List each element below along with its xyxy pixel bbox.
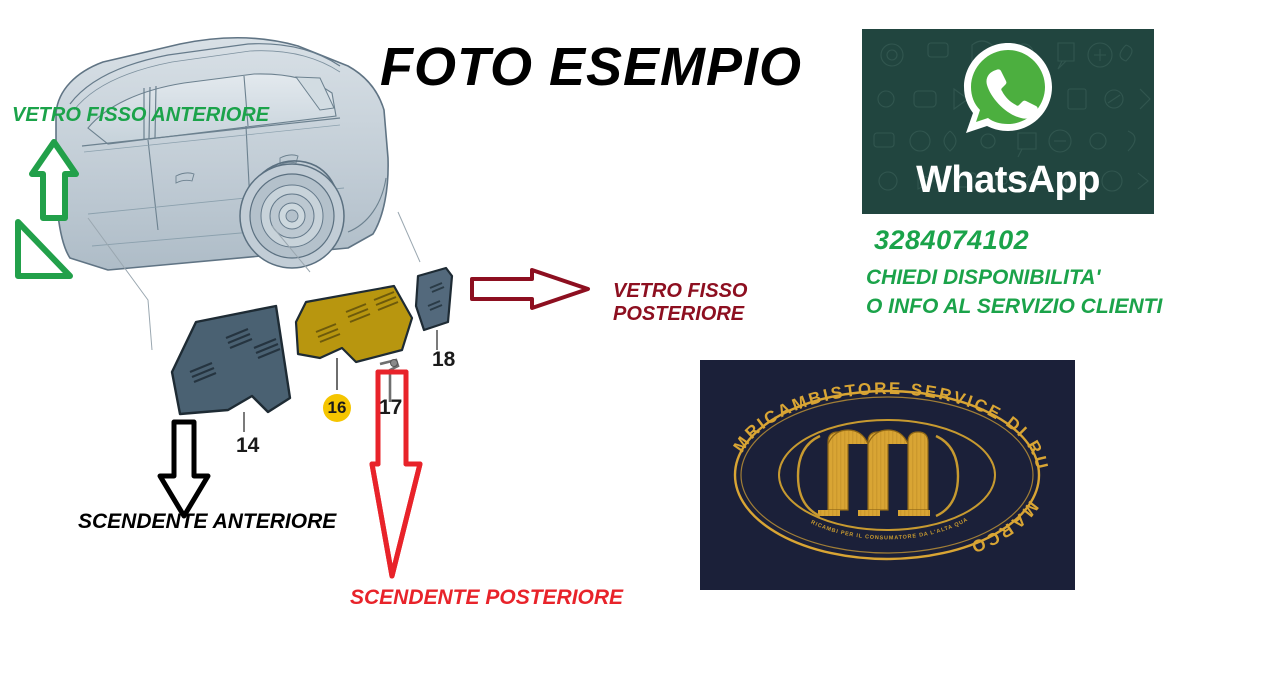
shop-logo-card: MRICAMBISTORE SERVICE DI RUSSO MARCO — [700, 360, 1075, 590]
part-number-18: 18 — [432, 348, 455, 372]
callout-vfp-line1: VETRO FISSO — [613, 280, 747, 303]
contact-availability-text: CHIEDI DISPONIBILITA' — [866, 266, 1100, 290]
glass-part-16 — [296, 286, 412, 362]
glass-part-14 — [172, 306, 290, 414]
poster-canvas: 14 16 17 18 VETRO FISSO ANTERIORE VETRO … — [0, 0, 1264, 678]
part-number-17: 17 — [379, 396, 402, 420]
whatsapp-banner: WhatsApp — [862, 29, 1154, 214]
callout-scendente-posteriore: SCENDENTE POSTERIORE — [350, 586, 623, 610]
shop-logo-graphic: MRICAMBISTORE SERVICE DI RUSSO MARCO — [700, 360, 1075, 590]
part-number-16-badge: 16 — [323, 394, 351, 422]
page-title: FOTO ESEMPIO — [380, 36, 802, 98]
contact-phone-number[interactable]: 3284074102 — [874, 225, 1029, 256]
contact-service-text: O INFO AL SERVIZIO CLIENTI — [866, 295, 1162, 319]
callout-vetro-fisso-anteriore: VETRO FISSO ANTERIORE — [12, 104, 269, 127]
whatsapp-phone-icon — [958, 39, 1058, 139]
callout-scendente-anteriore: SCENDENTE ANTERIORE — [78, 510, 336, 534]
part-number-14: 14 — [236, 434, 259, 458]
glass-part-18 — [416, 268, 452, 330]
callout-vfp-line2: POSTERIORE — [613, 303, 747, 326]
whatsapp-wordmark: WhatsApp — [862, 159, 1154, 202]
callout-vetro-fisso-posteriore: VETRO FISSO POSTERIORE — [613, 280, 747, 326]
